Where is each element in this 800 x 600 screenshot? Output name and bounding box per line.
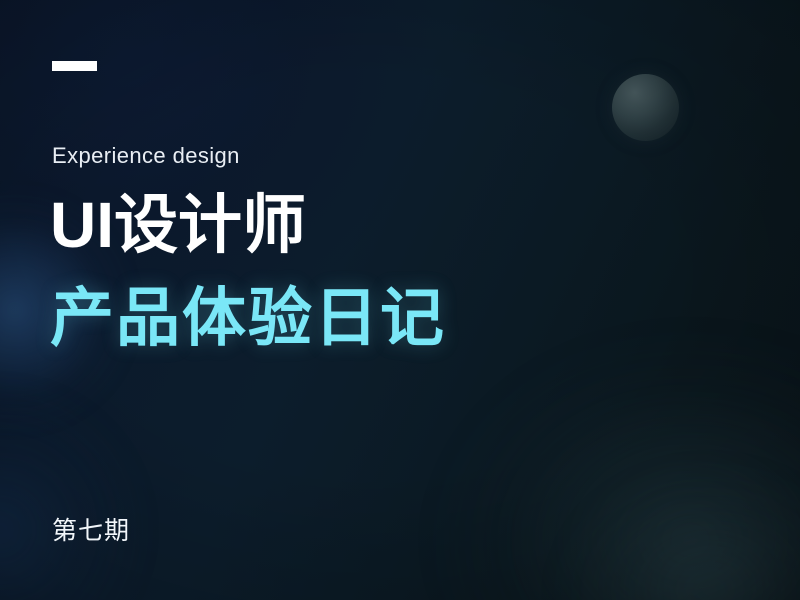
- issue-number-label: 第七期: [52, 516, 130, 546]
- page-title-line-1: UI设计师: [50, 189, 306, 261]
- accent-rule: [52, 61, 97, 71]
- eyebrow-text: Experience design: [52, 143, 240, 169]
- page-title-line-2: 产品体验日记: [50, 282, 446, 354]
- poster-content: Experience design UI设计师 产品体验日记 第七期: [0, 0, 800, 600]
- poster-slide: Experience design UI设计师 产品体验日记 第七期: [0, 0, 800, 600]
